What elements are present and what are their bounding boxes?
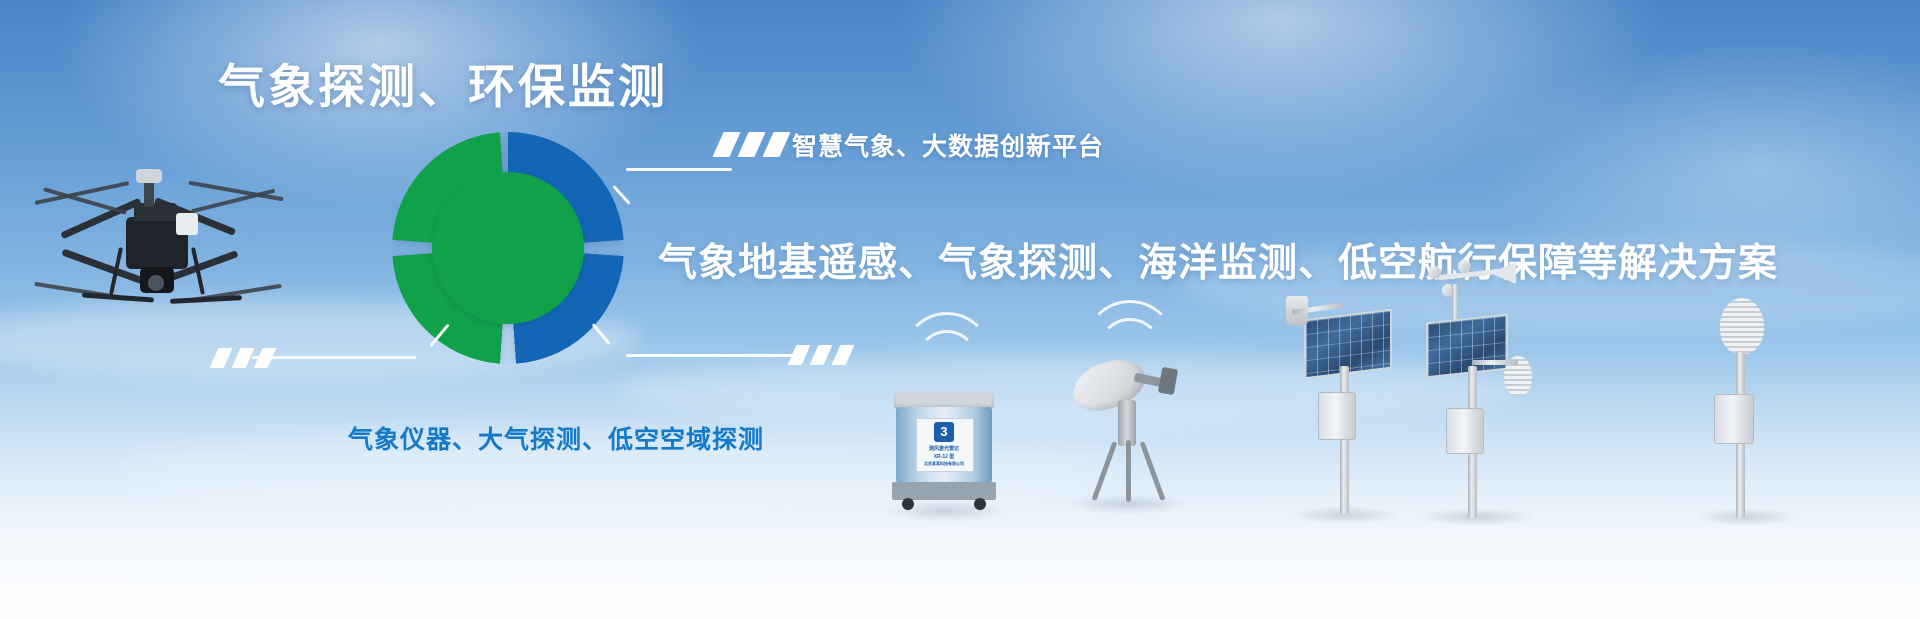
tripod-leg [1140,441,1166,501]
cloud-decoration [900,0,1660,200]
cross-arm [1472,360,1518,365]
laser-radar-analyzer: 3 测风激光雷达 XR-12 型 北京某某科技有限公司 [892,392,996,510]
callout-top-text: 智慧气象、大数据创新平台 [792,127,1104,163]
dish-reflector [1067,352,1152,419]
dish-feed-horn [1158,367,1178,395]
instrument-enclosure [1318,392,1356,440]
solar-weather-station [1284,300,1404,515]
analyzer-label-line3: 北京某某科技有限公司 [916,461,972,467]
analyzer-label-line1: 测风激光雷达 [916,445,972,452]
station-pole [1340,366,1349,514]
callout-bottom-text: 气象仪器、大气探测、低空空域探测 [348,420,764,456]
signal-wave-icon [902,312,992,402]
anemometer-cup [1428,266,1441,279]
weather-monitoring-banner: 气象探测、环保监测 智慧气象、大数据创新平台 气象地基遥感、气象探测、海洋监测、… [0,0,1920,619]
analyzer-wheel [902,498,914,510]
page-title: 气象探测、环保监测 [218,48,668,117]
solar-panel-grid [1428,316,1506,376]
slash-marks-left [214,348,272,368]
connector-right [606,318,816,378]
slash-marks-right [792,345,850,365]
analyzer-wheel [974,498,986,510]
donut-center [432,172,584,324]
donut-chart [392,132,624,364]
anemometer-cup [1458,260,1471,273]
tripod-leg [1126,440,1131,502]
radiation-shield-station [1690,298,1800,520]
analyzer-logo: 3 [934,422,954,442]
satellite-dish [1072,352,1184,502]
anemometer-weather-station [1412,262,1542,520]
wind-vane-tail [1490,262,1516,284]
radiation-shield-icon [1720,298,1764,354]
instrument-enclosure [1446,408,1484,454]
connector-top [612,150,792,206]
slash-marks-top [718,132,785,157]
analyzer-label-line2: XR-12 型 [916,453,972,460]
instrument-enclosure [1714,394,1754,444]
tripod-leg [1092,441,1118,501]
main-tagline: 气象地基遥感、气象探测、海洋监测、低空航行保障等解决方案 [658,232,1778,288]
drone-illustration [40,155,290,345]
solar-panel [1426,314,1508,379]
